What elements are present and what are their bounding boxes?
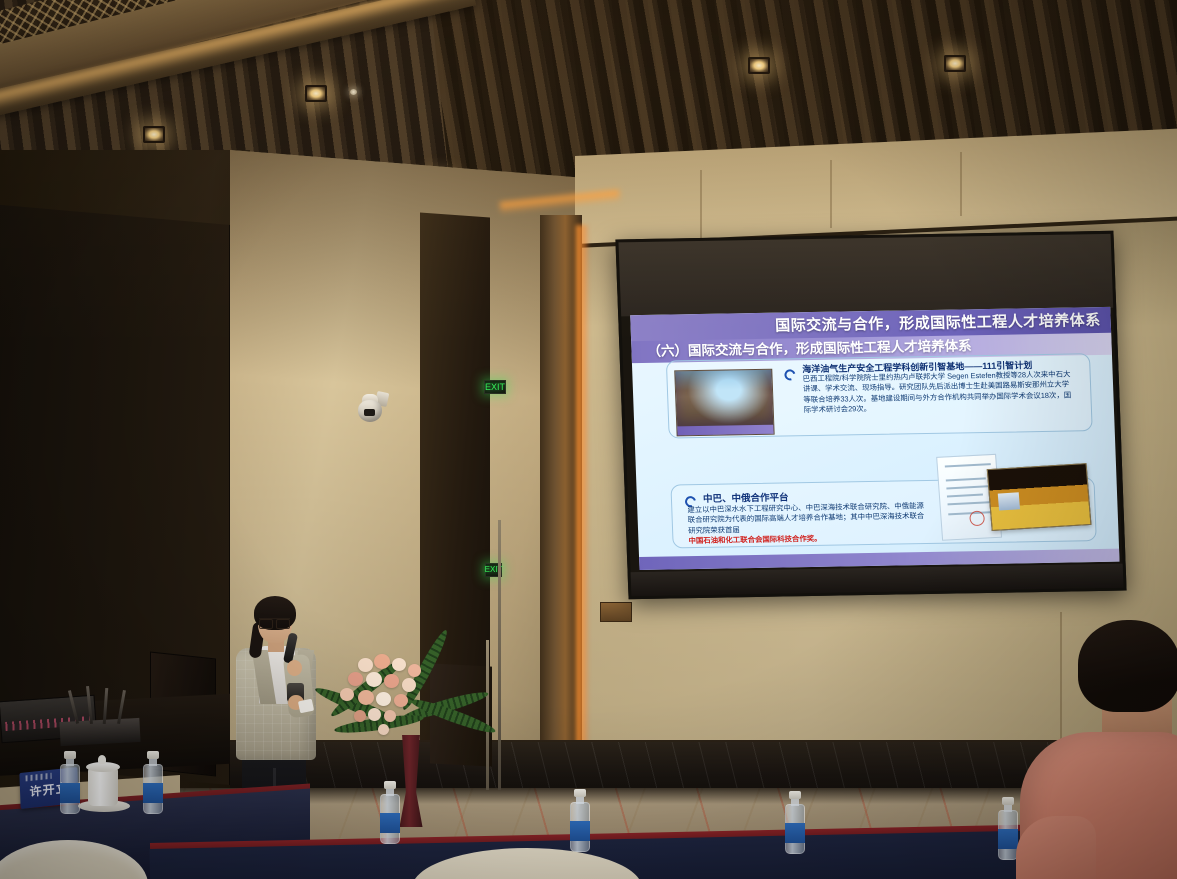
flower-bloom	[374, 654, 390, 669]
lidded-teacup[interactable]	[88, 768, 118, 806]
microphone-stand-tall	[498, 520, 501, 790]
presentation-slide: 国际交流与合作，形成国际性工程人才培养体系 （六）国际交流与合作，形成国际性工程…	[630, 307, 1119, 570]
flower-bloom	[384, 710, 396, 722]
flower-bloom	[368, 708, 381, 721]
water-bottle[interactable]	[570, 790, 590, 852]
flower-bloom	[392, 658, 406, 671]
ceiling-pinlight-icon	[350, 89, 357, 95]
wall-seam	[960, 152, 962, 216]
foreground-attendee	[1020, 620, 1177, 879]
water-bottle[interactable]	[143, 752, 163, 814]
wall-seam	[700, 170, 702, 240]
wall-plaque	[600, 602, 632, 622]
slide-block-1-body: 巴西工程院/科学院院士里约热内卢联邦大学 Segen Estefen教授等28人…	[802, 369, 1076, 415]
flower-bloom	[408, 664, 421, 677]
wireless-receiver-rack[interactable]	[59, 718, 140, 746]
water-bottle[interactable]	[60, 752, 80, 814]
slide-image-conference-room	[674, 369, 774, 437]
screen-top-border	[619, 234, 1114, 317]
pillar-cove-light	[576, 225, 588, 770]
water-bottle[interactable]	[380, 782, 400, 844]
ceiling-downlight-icon	[748, 57, 770, 74]
flower-bloom	[366, 672, 382, 687]
flower-bloom	[394, 694, 408, 707]
security-camera-icon	[358, 392, 384, 426]
attendee-hair	[1078, 620, 1177, 712]
ceiling-downlight-icon	[305, 85, 327, 102]
teacup-knob	[98, 755, 106, 764]
flower-bloom	[348, 672, 363, 686]
floral-arrangement	[318, 648, 494, 758]
exit-sign-glyph-icon: EXIT	[485, 383, 505, 392]
projection-screen[interactable]: 国际交流与合作，形成国际性工程人才培养体系 （六）国际交流与合作，形成国际性工程…	[615, 231, 1126, 599]
slide-image-group-photo	[987, 463, 1092, 531]
ceiling-downlight-icon	[944, 55, 966, 72]
flower-bloom	[376, 692, 391, 706]
water-bottle[interactable]	[785, 792, 805, 854]
conference-hall-scene: EXIT EXIT 国际交流与合作，形成国际性工程人才培养体系 （六）国际交流与…	[0, 0, 1177, 879]
slide-block-2-heading: 中巴、中俄合作平台	[703, 489, 789, 504]
ceiling-downlight-icon	[143, 126, 165, 143]
certificate-seal-icon	[969, 511, 985, 527]
wall-seam	[830, 160, 832, 228]
flower-bloom	[384, 674, 399, 688]
flower-bloom	[340, 688, 354, 701]
flower-bloom	[354, 710, 366, 722]
presenter-hand-upper	[287, 660, 302, 676]
slide-block-2-body: 建立以中巴深水水下工程研究中心、中巴深海技术联合研究院、中俄能源联合研究院为代表…	[687, 501, 928, 536]
flower-bloom	[402, 678, 416, 692]
flower-bloom	[358, 658, 373, 672]
flower-bloom	[358, 690, 374, 705]
flower-bloom	[378, 724, 389, 735]
camera-dome	[358, 400, 382, 422]
exit-sign-upper: EXIT	[484, 380, 506, 394]
water-bottle[interactable]	[998, 798, 1018, 860]
glasses-icon	[259, 618, 290, 627]
